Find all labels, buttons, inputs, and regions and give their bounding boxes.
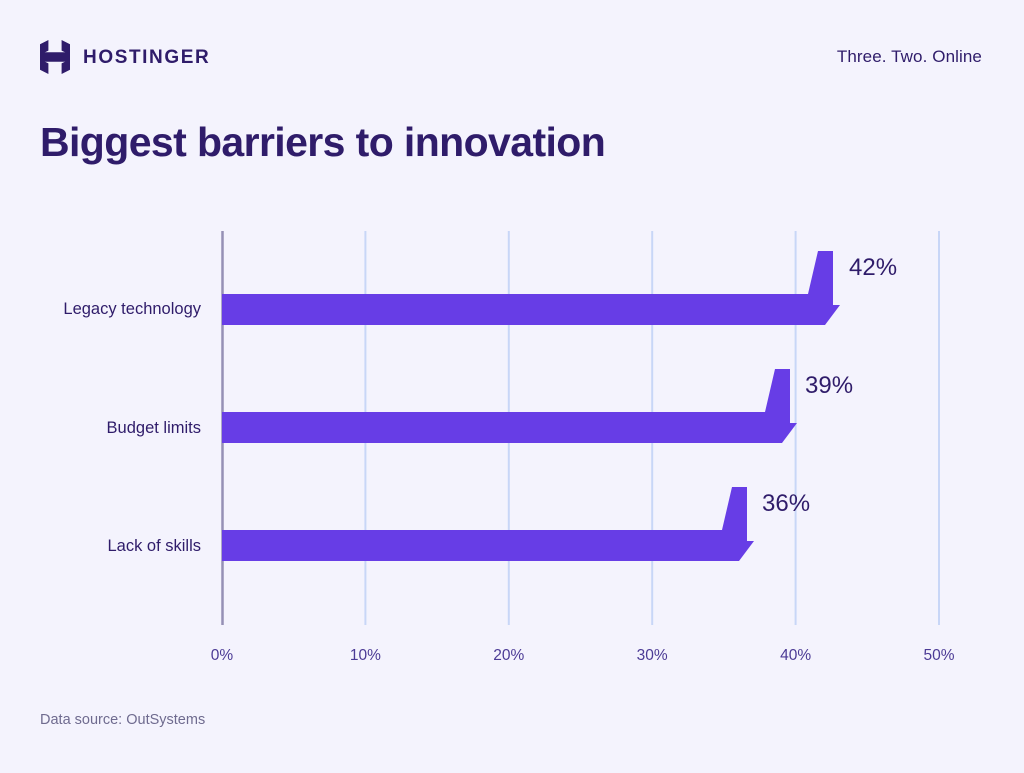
category-label-legacy-technology: Legacy technology [63,300,201,319]
category-label-lack-of-skills: Lack of skills [107,537,201,556]
data-source-note: Data source: OutSystems [40,712,205,728]
bar-series [222,251,840,561]
xtick-label-50: 50% [923,647,954,665]
value-label-legacy-technology: 42% [849,254,897,282]
value-label-budget-limits: 39% [805,372,853,400]
bar-chart: Legacy technology Budget limits Lack of … [0,0,1024,773]
xtick-label-20: 20% [493,647,524,665]
xtick-label-40: 40% [780,647,811,665]
bar-legacy-technology [222,251,840,325]
category-label-budget-limits: Budget limits [107,419,201,438]
xtick-label-10: 10% [350,647,381,665]
bar-lack-of-skills [222,487,754,561]
xtick-label-0: 0% [211,647,233,665]
xtick-label-30: 30% [637,647,668,665]
value-label-lack-of-skills: 36% [762,490,810,518]
